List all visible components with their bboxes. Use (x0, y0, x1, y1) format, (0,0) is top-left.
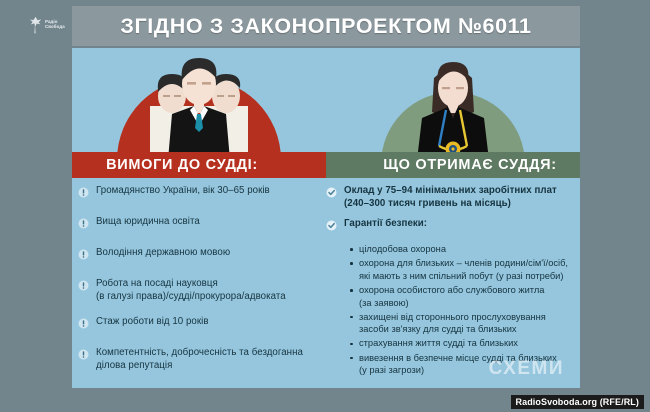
logo-line-2: Свобода (45, 25, 65, 30)
requirements-header-label: ВИМОГИ ДО СУДДІ: (106, 157, 258, 173)
illustration-judges-requirements (72, 48, 326, 160)
benefits-list: Оклад у 75–94 мінімальних заробітних пла… (326, 184, 574, 378)
title-bar: ЗГІДНО З ЗАКОНОПРОЕКТОМ №6011 (72, 6, 580, 46)
exclamation-circle-icon (78, 347, 89, 365)
benefit-subitem: захищені від стороннього прослуховування… (350, 311, 574, 336)
exclamation-circle-icon (78, 216, 89, 234)
requirement-item: Робота на посаді науковця(в галузі права… (78, 277, 326, 303)
exclamation-circle-icon (78, 278, 89, 296)
benefit-subitem: цілодобова охорона (350, 243, 574, 256)
requirement-text: Компетентність, доброчесність та бездога… (96, 346, 303, 372)
requirement-item: Компетентність, доброчесність та бездога… (78, 346, 326, 372)
requirement-item: Володіння державною мовою (78, 246, 326, 265)
benefit-text: Оклад у 75–94 мінімальних заробітних пла… (344, 184, 557, 210)
benefit-group: Гарантії безпеки:цілодобова охоронаохоро… (326, 217, 574, 377)
requirement-item: Стаж роботи від 10 років (78, 315, 326, 334)
benefit-item: Оклад у 75–94 мінімальних заробітних пла… (326, 184, 574, 210)
benefit-subitem: охорона для близьких – членів родини/сім… (350, 257, 574, 282)
exclamation-circle-icon (78, 185, 89, 203)
requirement-text: Робота на посаді науковця(в галузі права… (96, 277, 286, 303)
requirement-item: Громадянство України, вік 30–65 років (78, 184, 326, 203)
check-circle-icon (326, 218, 337, 236)
benefit-subitem: страхування життя судді та близьких (350, 337, 574, 350)
benefits-header-label: ЩО ОТРИМАЄ СУДДЯ: (383, 157, 557, 173)
illustration-judge-benefits (326, 48, 580, 160)
source-credit: RadioSvoboda.org (RFE/RL) (511, 395, 645, 409)
requirement-text: Стаж роботи від 10 років (96, 315, 209, 328)
infographic-root: ЗГІДНО З ЗАКОНОПРОЕКТОМ №6011 Радіо Своб… (0, 0, 650, 412)
benefit-item: Гарантії безпеки: (326, 217, 574, 236)
page-title: ЗГІДНО З ЗАКОНОПРОЕКТОМ №6011 (72, 14, 580, 39)
requirements-list: Громадянство України, вік 30–65 роківВищ… (78, 184, 326, 384)
bird-icon (28, 16, 42, 34)
content-panel: ВИМОГИ ДО СУДДІ: ЩО ОТРИМАЄ СУДДЯ: Грома… (72, 48, 580, 388)
check-circle-icon (326, 185, 337, 203)
benefit-sublist: цілодобова охоронаохорона для близьких –… (350, 243, 574, 377)
exclamation-circle-icon (78, 316, 89, 334)
radio-svoboda-logo: Радіо Свобода (28, 14, 80, 36)
logo-wordmark: Радіо Свобода (45, 20, 65, 29)
benefit-subitem: охорона особистого або службового житла(… (350, 284, 574, 309)
benefit-group: Оклад у 75–94 мінімальних заробітних пла… (326, 184, 574, 210)
requirement-text: Вища юридична освіта (96, 215, 200, 228)
requirement-text: Громадянство України, вік 30–65 років (96, 184, 270, 197)
benefits-header: ЩО ОТРИМАЄ СУДДЯ: (326, 152, 580, 178)
requirements-header: ВИМОГИ ДО СУДДІ: (72, 152, 326, 178)
exclamation-circle-icon (78, 247, 89, 265)
requirement-text: Володіння державною мовою (96, 246, 230, 259)
requirement-item: Вища юридична освіта (78, 215, 326, 234)
schemes-watermark: СХЕМИ (489, 358, 564, 380)
benefit-text: Гарантії безпеки: (344, 217, 427, 230)
